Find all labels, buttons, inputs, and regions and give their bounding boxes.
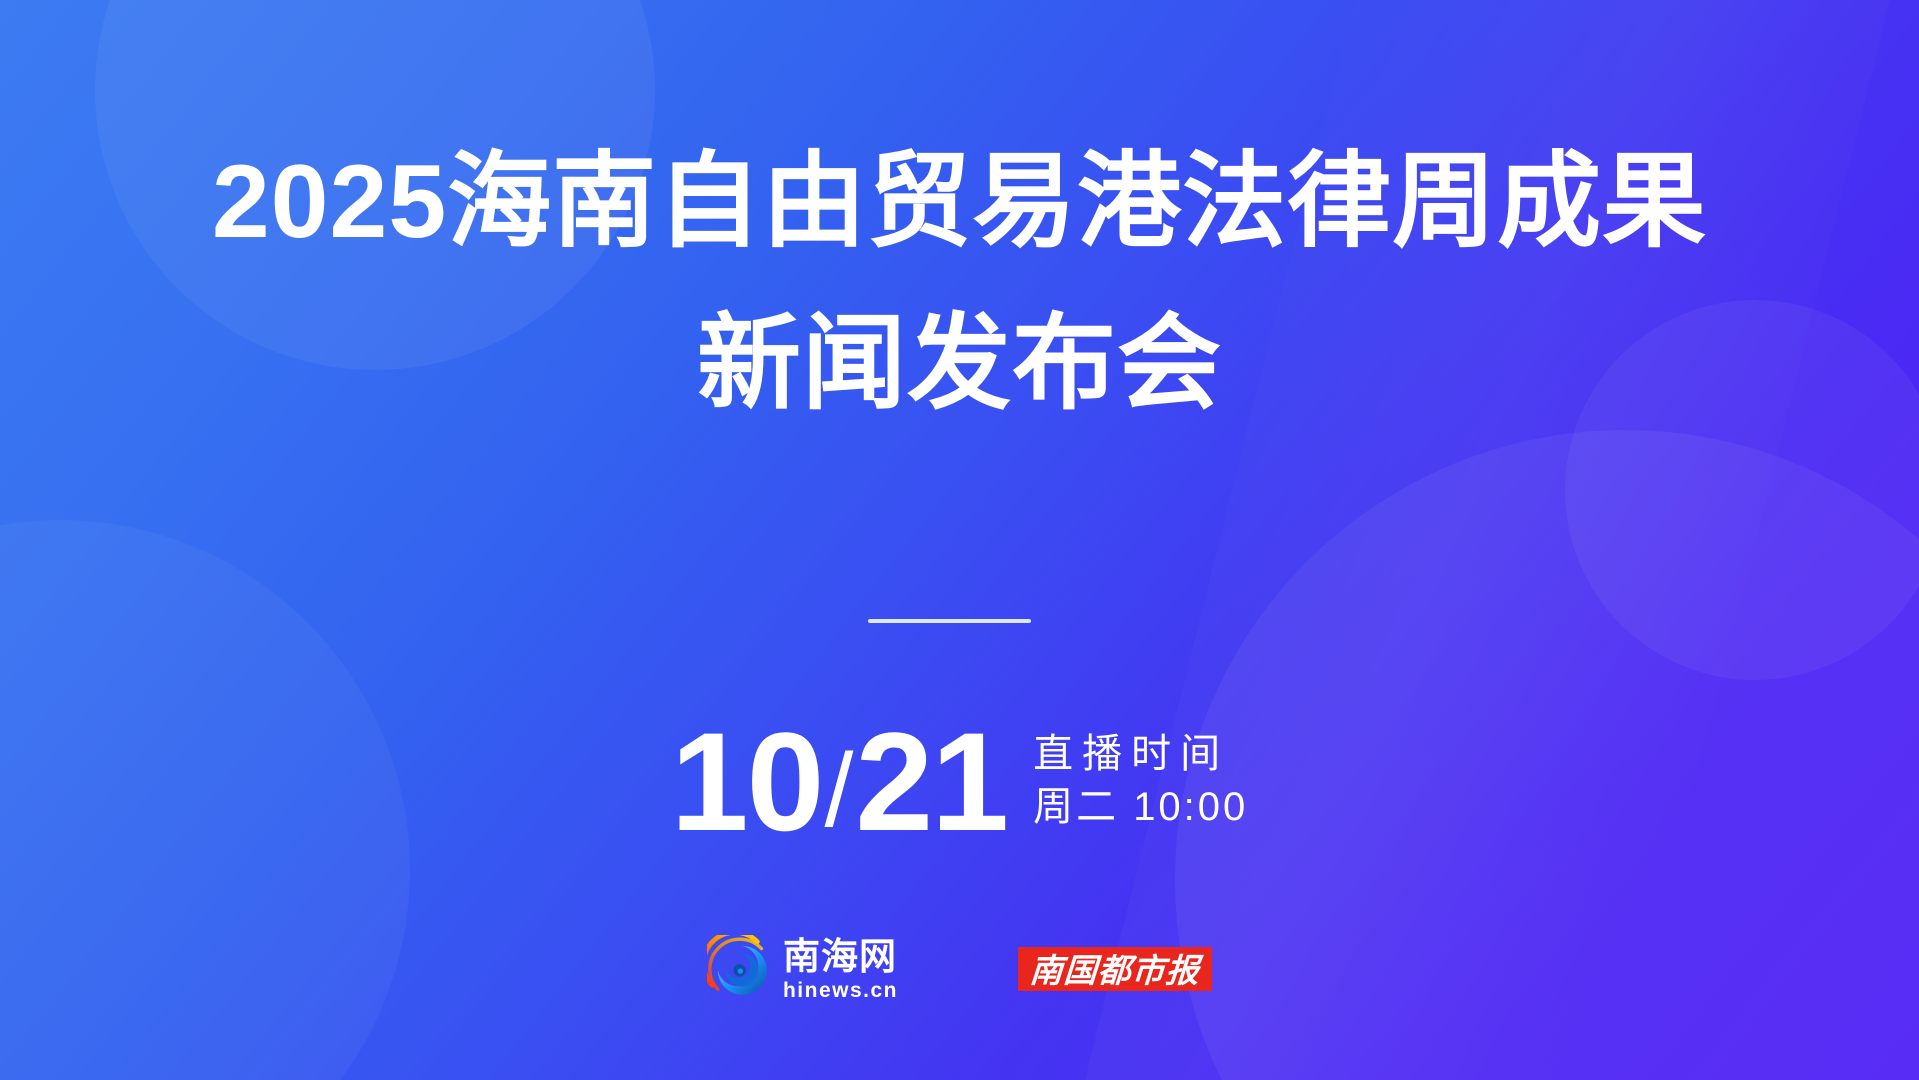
logo-row: 南海网 hinews.cn 南国都市报 xyxy=(0,935,1919,1003)
poster-content: 2025海南自由贸易港法律周成果 新闻发布会 10 / 21 直播时间 周二 1… xyxy=(0,0,1919,1080)
date-month: 10 xyxy=(671,712,823,852)
broadcast-time-value: 周二 10:00 xyxy=(1033,781,1248,834)
poster-canvas: 2025海南自由贸易港法律周成果 新闻发布会 10 / 21 直播时间 周二 1… xyxy=(0,0,1919,1080)
hinews-wordmark: 南海网 hinews.cn xyxy=(783,938,898,1001)
event-datetime-row: 10 / 21 直播时间 周二 10:00 xyxy=(0,712,1919,852)
hinews-name-en: hinews.cn xyxy=(783,980,898,1001)
title-line-secondary: 新闻发布会 xyxy=(0,312,1919,416)
broadcast-time-label: 直播时间 xyxy=(1033,728,1248,781)
page-title: 2025海南自由贸易港法律周成果 新闻发布会 xyxy=(0,150,1919,416)
date-day: 21 xyxy=(855,712,1007,852)
hinews-name-cn: 南海网 xyxy=(783,938,898,975)
title-divider xyxy=(868,619,1031,623)
nanguo-logo: 南国都市报 xyxy=(1018,947,1212,991)
title-line-primary: 2025海南自由贸易港法律周成果 xyxy=(0,150,1919,254)
event-date: 10 / 21 xyxy=(671,712,1007,852)
hinews-logo: 南海网 hinews.cn xyxy=(707,935,898,1003)
broadcast-time-block: 直播时间 周二 10:00 xyxy=(1033,712,1248,834)
spiral-vortex-icon xyxy=(707,935,775,1003)
date-separator: / xyxy=(824,739,853,843)
nanguo-name-cn: 南国都市报 xyxy=(1028,944,1201,992)
